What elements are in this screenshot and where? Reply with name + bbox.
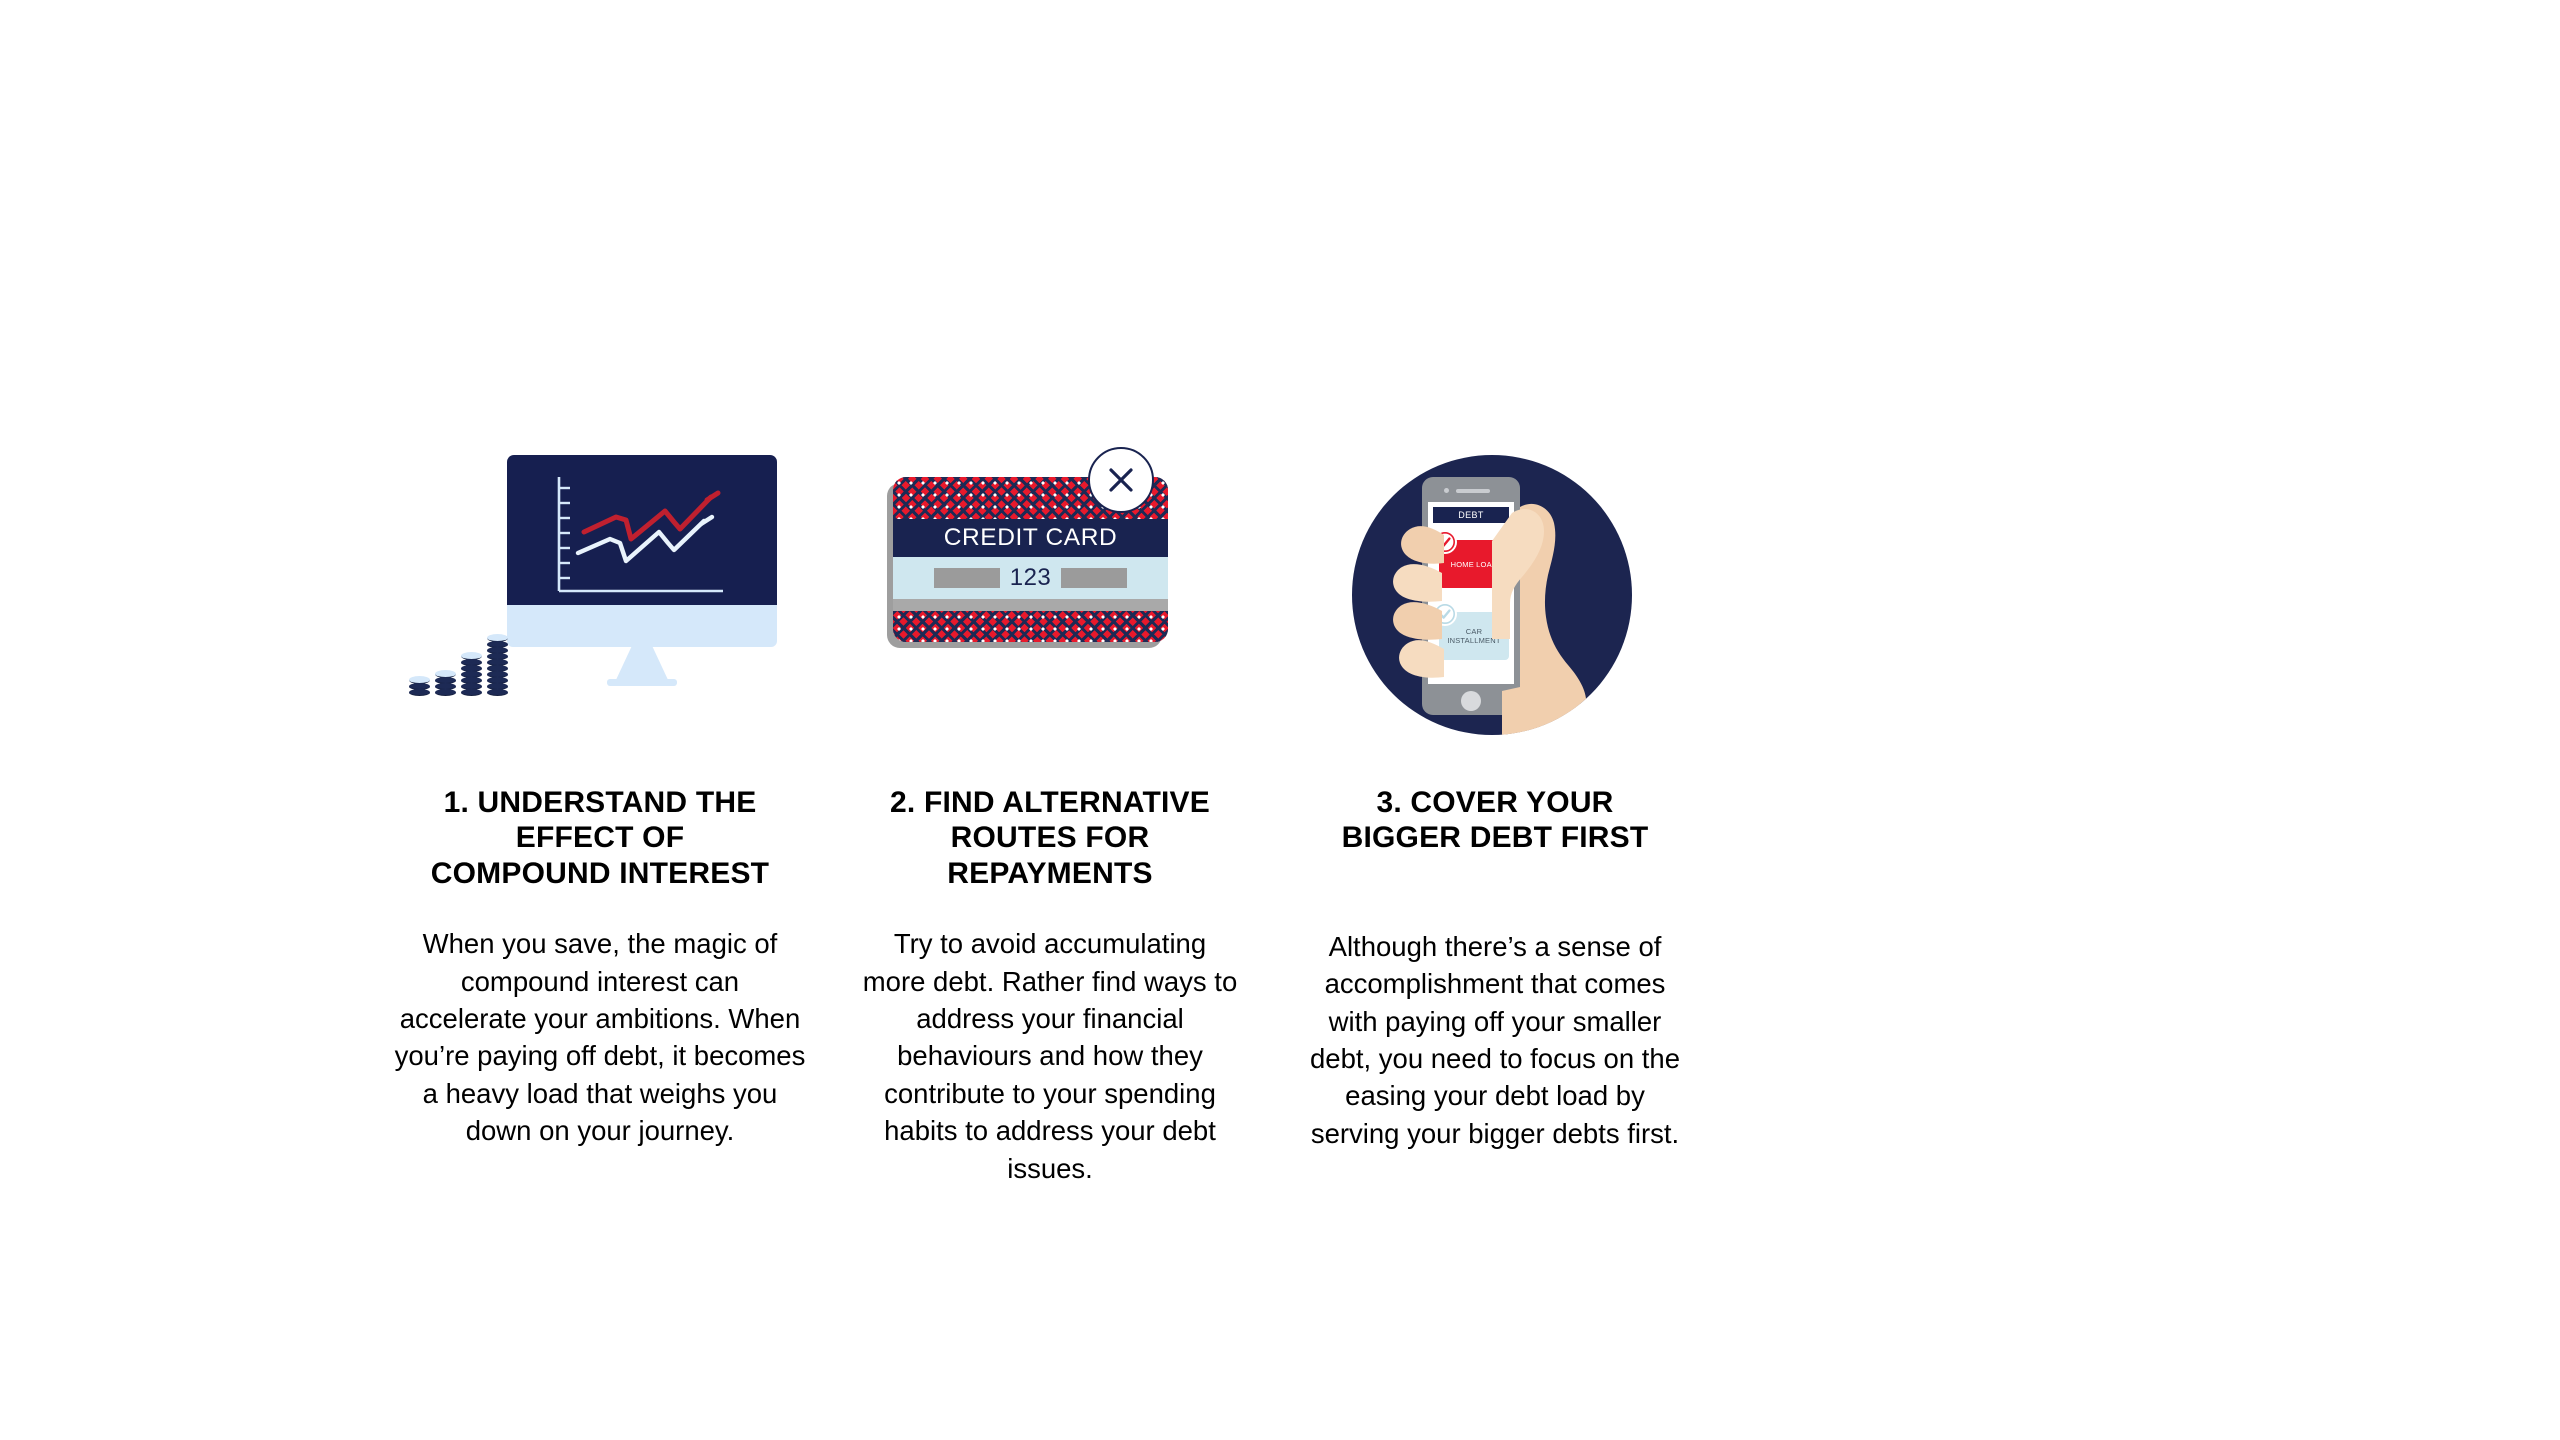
illustration-monitor-growth: [395, 455, 805, 755]
card-magnetic-strip: [893, 599, 1168, 611]
illustration-phone-debt: DEBT HOME LOAN: [1290, 455, 1700, 755]
coin-stack: [487, 635, 508, 696]
coin-stack: [435, 671, 456, 696]
card-title-band: CREDIT CARD: [893, 519, 1168, 557]
step-heading-3: 3. COVER YOUR BIGGER DEBT FIRST: [1315, 785, 1675, 856]
credit-card-graphic: CREDIT CARD 123: [885, 477, 1175, 677]
x-glyph: [1104, 463, 1138, 497]
coin-stack: [409, 677, 430, 696]
step-heading-1: 1. UNDERSTAND THE EFFECT OF COMPOUND INT…: [395, 785, 805, 891]
card-cvv-text: 123: [1010, 564, 1052, 592]
card-number-band: 123: [893, 557, 1168, 599]
step-column-3: DEBT HOME LOAN: [1295, 455, 1695, 1152]
step-body-2: Try to avoid accumulating more debt. Rat…: [861, 925, 1239, 1187]
monitor-bezel: [507, 605, 777, 647]
close-x-icon: [1088, 447, 1154, 513]
phone-graphic: DEBT HOME LOAN: [1352, 455, 1632, 735]
step-column-2: CREDIT CARD 123: [845, 455, 1255, 1187]
card-masked-block-right: [1061, 568, 1127, 588]
card-masked-block-left: [934, 568, 1000, 588]
illustration-credit-card: CREDIT CARD 123: [845, 455, 1255, 755]
step-body-1: When you save, the magic of compound int…: [394, 925, 806, 1149]
card-title-text: CREDIT CARD: [944, 524, 1118, 552]
phone-circle-backdrop: DEBT HOME LOAN: [1352, 455, 1632, 735]
monitor-stand-neck: [615, 645, 669, 682]
growth-line-chart: [507, 455, 777, 607]
step-heading-2: 2. FIND ALTERNATIVE ROUTES FOR REPAYMENT…: [855, 785, 1245, 891]
step-column-1: 1. UNDERSTAND THE EFFECT OF COMPOUND INT…: [395, 455, 805, 1150]
monitor-stand-foot: [607, 679, 677, 686]
monitor-graphic: [507, 455, 777, 695]
coin-stack: [461, 653, 482, 696]
infographic-board: 1. UNDERSTAND THE EFFECT OF COMPOUND INT…: [0, 0, 2560, 1440]
coin-stacks: [409, 610, 509, 696]
steps-row: 1. UNDERSTAND THE EFFECT OF COMPOUND INT…: [395, 455, 1735, 1187]
hand-illustration: [1352, 455, 1632, 735]
step-body-3: Although there’s a sense of accomplishme…: [1301, 928, 1689, 1152]
card-pattern-bottom: [893, 611, 1168, 642]
